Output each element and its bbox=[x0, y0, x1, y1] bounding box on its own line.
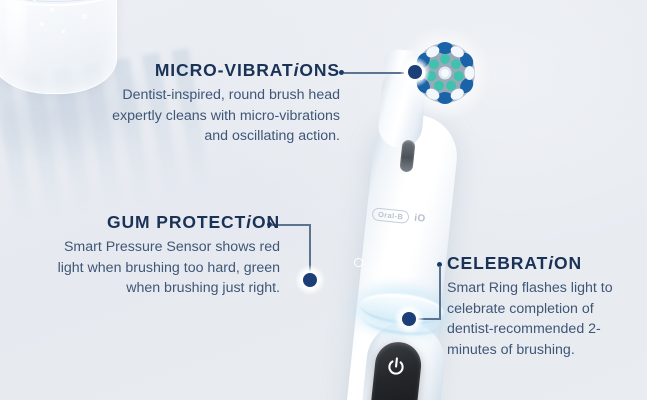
callout-gum-protection: GUM PROTECTiON Smart Pressure Sensor sho… bbox=[38, 212, 280, 299]
connector-node-smart-ring bbox=[394, 304, 424, 334]
connector-node-pressure-sensor bbox=[295, 265, 325, 295]
callout-body-gum-protection: Smart Pressure Sensor shows red light wh… bbox=[38, 237, 280, 299]
power-icon bbox=[384, 355, 408, 379]
infographic-canvas: Oral-B iO bbox=[0, 0, 647, 400]
callout-micro-vibrations: MICRO-VIBRATiONS Dentist-inspired, round… bbox=[104, 60, 340, 147]
callout-body-celebration: Smart Ring flashes light to celebrate co… bbox=[447, 278, 637, 361]
callout-celebration: CELEBRATiON Smart Ring flashes light to … bbox=[447, 253, 637, 361]
connector-node-brush-head bbox=[400, 57, 430, 87]
model-label: iO bbox=[414, 213, 426, 225]
connector-line-celebration-vertical bbox=[439, 266, 441, 320]
glass-highlight bbox=[6, 0, 26, 72]
callout-title-micro-vibrations: MICRO-VIBRATiONS bbox=[104, 60, 340, 81]
connector-line-micro-vibrations bbox=[344, 72, 404, 74]
callout-title-gum-protection: GUM PROTECTiON bbox=[38, 212, 280, 233]
callout-title-celebration: CELEBRATiON bbox=[447, 253, 637, 274]
callout-body-micro-vibrations: Dentist-inspired, round brush head exper… bbox=[104, 85, 340, 147]
